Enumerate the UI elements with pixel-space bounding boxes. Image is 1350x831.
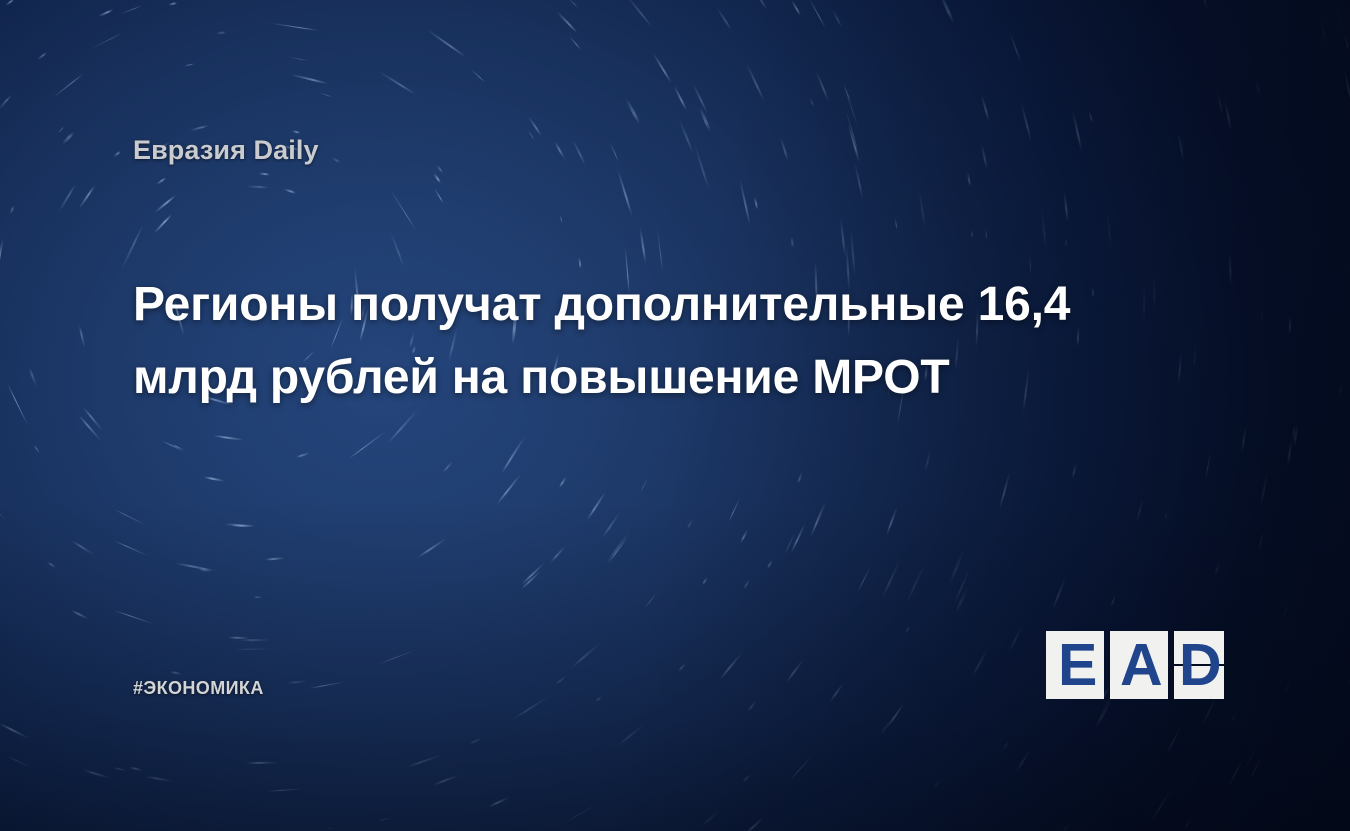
star-trail-streaks [0, 0, 1350, 831]
headline: Регионы получат дополнительные 16,4 млрд… [133, 268, 1203, 414]
headline-line-1: Регионы получат дополнительные 16,4 [133, 268, 1203, 341]
logo-letter-a: A [1120, 631, 1163, 699]
category-tag[interactable]: #ЭКОНОМИКА [133, 678, 264, 699]
eadaily-logo[interactable]: E A D [1046, 631, 1224, 699]
logo-letter-d: D [1179, 631, 1222, 699]
logo-letter-e: E [1058, 631, 1097, 699]
headline-line-2: млрд рублей на повышение МРОТ [133, 341, 1203, 414]
brand-wordmark: Евразия Daily [133, 135, 319, 166]
news-share-card: Евразия Daily Регионы получат дополнител… [0, 0, 1350, 831]
